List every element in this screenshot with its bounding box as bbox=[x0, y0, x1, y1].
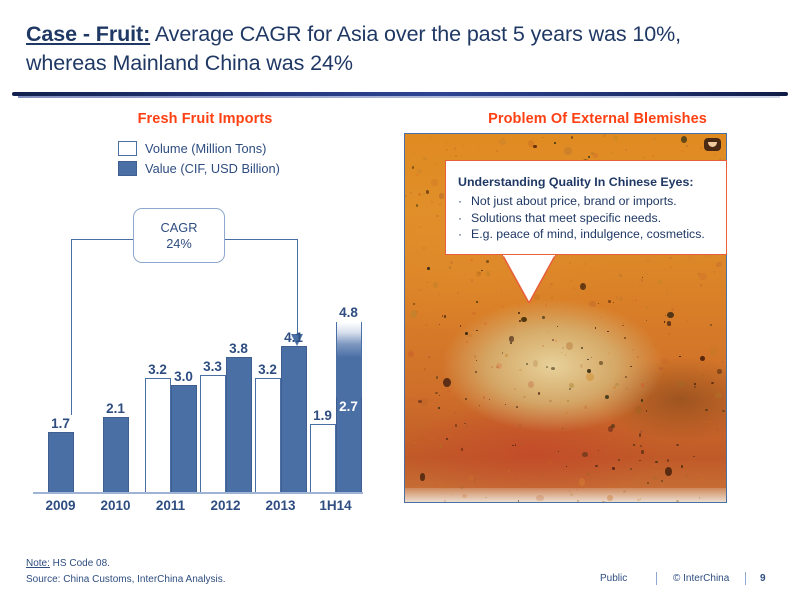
photo-texture-speck bbox=[475, 371, 477, 373]
photo-texture-speck bbox=[606, 290, 607, 291]
bullet-icon: · bbox=[458, 210, 471, 227]
photo-texture-speck bbox=[518, 305, 521, 307]
photo-texture-speck bbox=[591, 357, 592, 358]
photo-texture-speck bbox=[598, 450, 599, 451]
photo-texture-speck bbox=[409, 412, 412, 415]
photo-texture-speck bbox=[426, 190, 430, 194]
bar-chart: 1.72.13.23.03.33.83.24.11.94.82.7 200920… bbox=[0, 0, 410, 540]
photo-texture-speck bbox=[470, 259, 473, 261]
photo-texture-speck bbox=[486, 271, 490, 276]
photo-texture-speck bbox=[505, 418, 507, 420]
bar-label-value: 1.7 bbox=[51, 416, 70, 431]
photo-texture-speck bbox=[472, 312, 476, 315]
footer-note-text: HS Code 08. bbox=[50, 558, 110, 569]
photo-texture-speck bbox=[408, 351, 414, 357]
photo-texture-speck bbox=[436, 215, 438, 218]
photo-texture-speck bbox=[633, 444, 635, 446]
photo-texture-speck bbox=[445, 141, 447, 143]
photo-texture-speck bbox=[637, 443, 639, 445]
photo-texture-speck bbox=[725, 451, 727, 456]
photo-texture-speck bbox=[412, 166, 414, 168]
bar-group: 1.7 bbox=[33, 300, 88, 492]
photo-texture-speck bbox=[423, 157, 426, 160]
photo-texture-speck bbox=[710, 347, 717, 356]
photo-texture-speck bbox=[518, 312, 520, 314]
photo-texture-speck bbox=[424, 368, 427, 371]
photo-texture-speck bbox=[423, 193, 425, 195]
photo-texture-speck bbox=[595, 327, 597, 329]
photo-texture-speck bbox=[681, 263, 683, 265]
photo-texture-speck bbox=[569, 262, 571, 264]
photo-texture-speck bbox=[628, 318, 629, 319]
photo-texture-speck bbox=[545, 304, 548, 307]
photo-texture-speck bbox=[443, 378, 451, 388]
footer-copyright: © InterChina bbox=[673, 573, 745, 584]
photo-texture-speck bbox=[694, 383, 696, 385]
photo-texture-speck bbox=[639, 285, 641, 287]
photo-texture-speck bbox=[482, 470, 484, 472]
bar-volume: 3.2 bbox=[145, 378, 171, 492]
photo-texture-speck bbox=[549, 461, 551, 463]
photo-texture-speck bbox=[687, 254, 692, 260]
footer-classification: Public bbox=[600, 573, 656, 584]
callout-title: Understanding Quality In Chinese Eyes: bbox=[458, 174, 714, 190]
photo-texture-speck bbox=[632, 349, 634, 351]
photo-texture-speck bbox=[533, 360, 539, 367]
photo-texture-speck bbox=[686, 320, 687, 322]
photo-texture-speck bbox=[510, 342, 512, 344]
photo-texture-speck bbox=[516, 406, 518, 408]
photo-texture-speck bbox=[444, 425, 446, 428]
photo-texture-speck bbox=[416, 174, 417, 175]
photo-texture-speck bbox=[486, 260, 489, 263]
chart-x-tick-labels: 200920102011201220131H14 bbox=[33, 498, 363, 522]
photo-texture-speck bbox=[435, 163, 437, 166]
photo-texture-speck bbox=[411, 310, 417, 318]
photo-texture-speck bbox=[473, 479, 476, 482]
photo-texture-speck bbox=[655, 344, 657, 346]
photo-texture-speck bbox=[570, 493, 573, 496]
photo-texture-speck bbox=[566, 466, 567, 467]
photo-texture-speck bbox=[667, 321, 672, 325]
photo-texture-speck bbox=[646, 306, 648, 309]
photo-texture-speck bbox=[646, 410, 648, 411]
callout-bullet-item: ·E.g. peace of mind, indulgence, cosmeti… bbox=[458, 226, 714, 243]
photo-texture-speck bbox=[449, 266, 451, 269]
photo-texture-speck bbox=[567, 481, 569, 482]
photo-texture-speck bbox=[454, 465, 457, 467]
photo-texture-speck bbox=[715, 393, 721, 398]
photo-texture-speck bbox=[520, 442, 523, 445]
photo-texture-speck bbox=[525, 135, 527, 137]
photo-texture-speck bbox=[465, 398, 467, 400]
photo-texture-speck bbox=[716, 265, 717, 266]
photo-texture-speck bbox=[518, 424, 522, 427]
photo-texture-speck bbox=[562, 347, 564, 349]
photo-texture-speck bbox=[425, 328, 427, 329]
photo-texture-speck bbox=[542, 474, 544, 476]
photo-texture-speck bbox=[599, 361, 603, 365]
photo-texture-speck bbox=[496, 150, 498, 152]
photo-texture-speck bbox=[499, 139, 507, 145]
bar-group: 3.33.8 bbox=[198, 300, 253, 492]
photo-texture-speck bbox=[476, 301, 478, 302]
photo-texture-speck bbox=[635, 299, 636, 301]
photo-texture-speck bbox=[555, 340, 557, 342]
photo-texture-speck bbox=[548, 331, 549, 332]
photo-texture-speck bbox=[479, 405, 480, 406]
photo-texture-speck bbox=[562, 428, 563, 429]
photo-texture-speck bbox=[630, 468, 632, 469]
photo-texture-speck bbox=[608, 438, 609, 439]
bullet-icon: · bbox=[458, 226, 471, 243]
bar-label-volume: 1.9 bbox=[313, 408, 332, 423]
photo-texture-speck bbox=[455, 424, 458, 426]
photo-texture-speck bbox=[413, 303, 415, 305]
photo-texture-speck bbox=[598, 303, 599, 305]
photo-texture-speck bbox=[569, 383, 574, 388]
footer-divider-1 bbox=[656, 572, 657, 585]
photo-texture-speck bbox=[434, 484, 436, 487]
photo-texture-speck bbox=[564, 147, 572, 155]
photo-texture-speck bbox=[428, 356, 430, 357]
photo-texture-speck bbox=[612, 152, 614, 153]
x-tick-label: 2009 bbox=[33, 498, 88, 513]
photo-texture-speck bbox=[625, 149, 627, 151]
photo-texture-speck bbox=[681, 321, 683, 323]
footer-page-number: 9 bbox=[760, 573, 766, 584]
photo-texture-speck bbox=[509, 336, 513, 341]
footer-note: Note: HS Code 08. bbox=[26, 556, 110, 571]
photo-texture-speck bbox=[436, 376, 439, 379]
photo-texture-speck bbox=[461, 448, 463, 450]
photo-texture-speck bbox=[496, 363, 502, 369]
photo-texture-speck bbox=[420, 473, 426, 480]
photo-texture-speck bbox=[639, 460, 640, 461]
photo-texture-speck bbox=[685, 434, 687, 436]
photo-texture-speck bbox=[508, 470, 510, 472]
photo-texture-speck bbox=[444, 315, 447, 317]
callout-bullet-text: E.g. peace of mind, indulgence, cosmetic… bbox=[471, 226, 705, 243]
photo-texture-speck bbox=[537, 445, 538, 446]
photo-texture-speck bbox=[714, 154, 715, 155]
photo-texture-speck bbox=[435, 392, 438, 394]
photo-texture-speck bbox=[647, 260, 649, 262]
photo-texture-speck bbox=[699, 482, 701, 483]
photo-texture-speck bbox=[726, 281, 727, 284]
photo-texture-speck bbox=[667, 312, 673, 318]
photo-texture-speck bbox=[600, 317, 601, 318]
photo-texture-speck bbox=[718, 502, 725, 503]
photo-texture-speck bbox=[460, 325, 462, 327]
photo-texture-speck bbox=[716, 428, 719, 431]
photo-texture-speck bbox=[612, 485, 614, 486]
photo-texture-speck bbox=[588, 156, 590, 158]
photo-texture-speck bbox=[581, 347, 583, 348]
photo-texture-speck bbox=[697, 475, 699, 477]
photo-texture-speck bbox=[670, 266, 672, 268]
photo-texture-speck bbox=[605, 395, 609, 399]
slide: Case - Fruit: Average CAGR for Asia over… bbox=[0, 0, 800, 600]
photo-texture-speck bbox=[551, 367, 555, 370]
x-tick-label: 2012 bbox=[198, 498, 253, 513]
photo-texture-speck bbox=[625, 376, 627, 378]
photo-texture-speck bbox=[720, 375, 722, 376]
photo-texture-speck bbox=[552, 339, 555, 341]
photo-texture-speck bbox=[605, 449, 608, 451]
photo-texture-speck bbox=[665, 467, 672, 476]
photo-texture-speck bbox=[554, 142, 556, 144]
photo-texture-speck bbox=[723, 446, 725, 448]
photo-texture-speck bbox=[410, 192, 412, 194]
photo-texture-speck bbox=[597, 277, 599, 279]
photo-texture-speck bbox=[640, 445, 642, 447]
photo-texture-speck bbox=[466, 425, 469, 428]
photo-texture-speck bbox=[699, 273, 707, 280]
photo-texture-speck bbox=[567, 400, 569, 402]
photo-texture-speck bbox=[454, 412, 456, 415]
photo-texture-speck bbox=[558, 451, 560, 452]
photo-texture-speck bbox=[641, 399, 643, 402]
right-panel-title: Problem Of External Blemishes bbox=[400, 111, 795, 127]
photo-texture-speck bbox=[587, 359, 588, 360]
photo-texture-speck bbox=[625, 297, 626, 298]
photo-texture-speck bbox=[591, 152, 594, 154]
photo-texture-speck bbox=[417, 169, 422, 174]
photo-texture-speck bbox=[640, 430, 643, 433]
photo-texture-speck bbox=[569, 388, 571, 390]
photo-texture-speck bbox=[616, 296, 619, 299]
callout-tail-shape-icon bbox=[502, 254, 556, 303]
photo-texture-speck bbox=[694, 386, 696, 388]
callout-bullet-list: ·Not just about price, brand or imports.… bbox=[458, 193, 714, 243]
bar-label-value: 2.7 bbox=[339, 399, 358, 414]
photo-texture-speck bbox=[467, 444, 468, 445]
photo-texture-speck bbox=[523, 396, 526, 398]
photo-texture-speck bbox=[587, 369, 592, 373]
photo-texture-speck bbox=[455, 155, 457, 156]
callout-tail bbox=[502, 254, 556, 303]
photo-texture-speck bbox=[421, 423, 424, 427]
photo-texture-speck bbox=[447, 390, 449, 392]
photo-corner-badge-icon bbox=[704, 138, 721, 151]
photo-texture-speck bbox=[546, 366, 548, 368]
photo-texture-speck bbox=[484, 322, 487, 325]
photo-texture-speck bbox=[542, 345, 544, 347]
bar-label-value: 4.1 bbox=[284, 330, 303, 345]
photo-texture-speck bbox=[421, 405, 423, 407]
x-tick-label: 1H14 bbox=[308, 498, 363, 513]
bar-label-value: 3.8 bbox=[229, 341, 248, 356]
photo-texture-speck bbox=[413, 152, 415, 154]
photo-texture-speck bbox=[668, 333, 669, 334]
photo-texture-speck bbox=[515, 444, 517, 446]
x-tick-label: 2013 bbox=[253, 498, 308, 513]
x-tick-label: 2010 bbox=[88, 498, 143, 513]
photo-texture-speck bbox=[685, 474, 689, 479]
photo-texture-speck bbox=[426, 282, 428, 284]
photo-texture-speck bbox=[647, 482, 650, 484]
photo-texture-speck bbox=[476, 360, 477, 361]
photo-texture-speck bbox=[622, 325, 624, 327]
callout-bullet-text: Solutions that meet specific needs. bbox=[471, 210, 661, 227]
photo-texture-speck bbox=[457, 292, 459, 294]
photo-texture-speck bbox=[635, 406, 642, 414]
photo-texture-speck bbox=[429, 480, 431, 482]
photo-texture-speck bbox=[408, 360, 410, 362]
photo-texture-speck bbox=[520, 319, 522, 321]
photo-texture-speck bbox=[700, 356, 705, 361]
photo-texture-speck bbox=[595, 465, 598, 467]
bar-volume: 3.3 bbox=[200, 375, 226, 492]
photo-texture-speck bbox=[533, 145, 536, 148]
photo-texture-speck bbox=[582, 452, 588, 456]
photo-texture-speck bbox=[642, 277, 643, 278]
photo-texture-speck bbox=[491, 366, 493, 368]
photo-texture-speck bbox=[438, 294, 439, 295]
photo-texture-speck bbox=[714, 271, 716, 273]
photo-texture-speck bbox=[580, 283, 586, 290]
bar-label-volume: 3.2 bbox=[258, 362, 277, 377]
photo-texture-speck bbox=[454, 147, 456, 149]
photo-texture-speck bbox=[542, 137, 544, 138]
photo-texture-speck bbox=[632, 300, 633, 302]
photo-texture-speck bbox=[440, 444, 443, 447]
photo-texture-speck bbox=[624, 337, 626, 338]
photo-texture-speck bbox=[677, 360, 678, 361]
photo-texture-speck bbox=[603, 134, 605, 137]
bar-label-value: 2.1 bbox=[106, 401, 125, 416]
photo-texture-speck bbox=[619, 274, 622, 277]
photo-texture-speck bbox=[489, 399, 491, 400]
photo-texture-speck bbox=[408, 399, 410, 400]
photo-texture-speck bbox=[528, 140, 533, 147]
photo-texture-speck bbox=[422, 378, 424, 380]
photo-texture-speck bbox=[502, 306, 504, 308]
photo-texture-speck bbox=[528, 381, 534, 388]
photo-texture-speck bbox=[726, 429, 727, 432]
bar-value: 3.8 bbox=[226, 357, 252, 492]
photo-texture-speck bbox=[418, 289, 420, 291]
photo-texture-speck bbox=[587, 473, 590, 476]
photo-texture-speck bbox=[725, 343, 727, 344]
photo-texture-speck bbox=[671, 308, 674, 311]
photo-texture-speck bbox=[577, 500, 579, 502]
photo-texture-speck bbox=[483, 396, 486, 399]
photo-texture-speck bbox=[653, 464, 655, 466]
photo-texture-speck bbox=[630, 321, 632, 322]
bullet-icon: · bbox=[458, 193, 471, 210]
photo-texture-speck bbox=[618, 459, 620, 461]
photo-texture-speck bbox=[519, 369, 522, 371]
photo-texture-speck bbox=[656, 471, 658, 473]
photo-texture-speck bbox=[514, 326, 515, 327]
photo-texture-speck bbox=[655, 461, 657, 463]
photo-texture-speck bbox=[565, 354, 567, 356]
bar-volume: 1.9 bbox=[310, 424, 336, 492]
photo-texture-speck bbox=[686, 145, 688, 147]
photo-texture-speck bbox=[664, 321, 666, 323]
photo-texture-speck bbox=[661, 358, 669, 364]
photo-texture-speck bbox=[651, 337, 652, 338]
photo-texture-speck bbox=[641, 379, 643, 382]
callout-bullet-text: Not just about price, brand or imports. bbox=[471, 193, 677, 210]
photo-texture-speck bbox=[625, 395, 626, 396]
bar-value: 2.1 bbox=[103, 417, 129, 492]
x-tick-label: 2011 bbox=[143, 498, 198, 513]
bar-group: 1.94.82.7 bbox=[308, 300, 363, 492]
photo-texture-speck bbox=[586, 373, 594, 382]
photo-texture-speck bbox=[439, 204, 441, 206]
photo-texture-speck bbox=[469, 334, 472, 336]
photo-texture-speck bbox=[512, 445, 514, 447]
footer-note-label: Note: bbox=[26, 558, 50, 569]
photo-texture-speck bbox=[676, 444, 679, 446]
photo-texture-speck bbox=[408, 450, 409, 451]
photo-texture-speck bbox=[669, 257, 671, 259]
photo-texture-speck bbox=[425, 324, 428, 326]
photo-texture-speck bbox=[413, 442, 415, 444]
photo-texture-speck bbox=[681, 314, 682, 315]
photo-texture-speck bbox=[619, 297, 623, 301]
photo-texture-speck bbox=[722, 410, 725, 412]
photo-texture-speck bbox=[428, 360, 429, 361]
photo-texture-speck bbox=[665, 315, 666, 316]
bar-label-volume: 3.2 bbox=[148, 362, 167, 377]
photo-texture-speck bbox=[466, 341, 468, 343]
photo-texture-speck bbox=[439, 193, 443, 198]
photo-texture-speck bbox=[538, 392, 541, 394]
photo-texture-speck bbox=[566, 412, 568, 414]
photo-texture-speck bbox=[514, 388, 516, 390]
photo-texture-speck bbox=[608, 352, 609, 354]
photo-texture-speck bbox=[434, 435, 436, 436]
photo-texture-speck bbox=[667, 459, 670, 462]
bar-group: 3.23.0 bbox=[143, 300, 198, 492]
photo-texture-speck bbox=[602, 501, 605, 503]
photo-texture-speck bbox=[681, 150, 683, 152]
photo-texture-speck bbox=[431, 179, 437, 187]
chart-plot-area: 1.72.13.23.03.33.83.24.11.94.82.7 bbox=[33, 300, 363, 492]
callout-bullet-item: ·Not just about price, brand or imports. bbox=[458, 193, 714, 210]
bar-value: 3.0 bbox=[171, 385, 197, 492]
photo-texture-speck bbox=[481, 270, 484, 272]
photo-texture-speck bbox=[462, 459, 463, 460]
photo-texture-speck bbox=[721, 361, 723, 363]
photo-texture-speck bbox=[515, 478, 517, 480]
photo-texture-speck bbox=[446, 149, 448, 151]
photo-texture-speck bbox=[717, 369, 721, 373]
photo-texture-speck bbox=[584, 263, 586, 265]
photo-texture-speck bbox=[450, 261, 452, 264]
photo-texture-speck bbox=[487, 289, 489, 291]
photo-texture-speck bbox=[633, 447, 634, 449]
photo-texture-speck bbox=[623, 322, 624, 324]
photo-texture-speck bbox=[429, 136, 431, 139]
callout-content: Understanding Quality In Chinese Eyes: ·… bbox=[446, 161, 726, 243]
photo-texture-speck bbox=[641, 450, 644, 453]
photo-texture-speck bbox=[462, 145, 464, 147]
photo-texture-speck bbox=[471, 279, 473, 281]
bar-volume: 3.2 bbox=[255, 378, 281, 492]
photo-texture-speck bbox=[693, 456, 695, 457]
photo-texture-speck bbox=[677, 381, 685, 387]
photo-texture-speck bbox=[523, 479, 526, 482]
bar-value: 4.1 bbox=[281, 346, 307, 492]
photo-texture-speck bbox=[643, 157, 645, 159]
photo-texture-speck bbox=[688, 371, 691, 373]
photo-texture-speck bbox=[465, 332, 468, 335]
